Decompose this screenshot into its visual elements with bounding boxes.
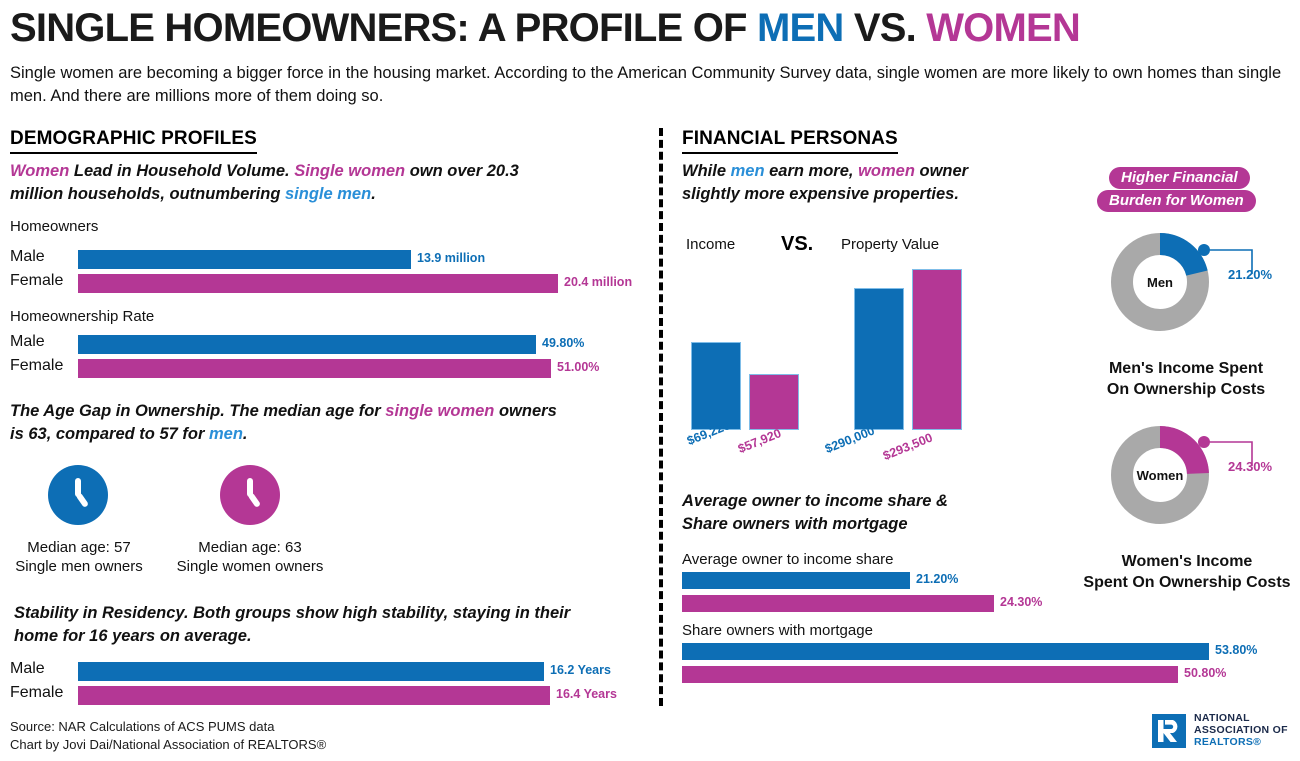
age-lede-single-women: single women — [385, 402, 494, 420]
stability-lede: Stability in Residency. Both groups show… — [14, 602, 614, 648]
age-lede-part-5: . — [243, 425, 248, 443]
bar-fill-blue — [682, 572, 910, 589]
column-divider — [659, 128, 663, 706]
bar-value-label: 49.80% — [542, 336, 584, 350]
bar-fill-magenta — [682, 666, 1178, 683]
badge-burden-for-women: Burden for Women — [1097, 190, 1256, 212]
nar-logo-line-1: NATIONAL — [1194, 712, 1288, 724]
group-label-share-owners-mortgage: Share owners with mortgage — [682, 622, 873, 639]
source-line-1: Source: NAR Calculations of ACS PUMS dat… — [10, 718, 326, 736]
donut-caption-women-line1: Women's Income — [1082, 551, 1292, 572]
vs-label: VS. — [781, 233, 813, 256]
title-segment-black-2: VS. — [844, 6, 927, 50]
bar-category-label: Female — [10, 272, 82, 290]
column-bar-income-female — [749, 374, 799, 430]
share-lede-line-2: Share owners with mortgage — [682, 513, 1022, 536]
bar-row-rate-female: Female 51.00% — [10, 359, 640, 378]
donut-caption-women-line2: Spent On Ownership Costs — [1082, 572, 1292, 593]
nar-logo-line-3: REALTORS® — [1194, 736, 1288, 748]
infographic-page: SINGLE HOMEOWNERS: A PROFILE OF MEN VS. … — [0, 0, 1300, 761]
lede-part-6: . — [371, 185, 376, 203]
section-heading-financial-personas: FINANCIAL PERSONAS — [682, 128, 898, 154]
column-value-property-female: $293,500 — [881, 430, 935, 463]
bar-row-homeowners-male: Male 13.9 million — [10, 250, 640, 269]
clock-caption-men-line2: Single men owners — [0, 557, 160, 576]
clock-caption-women-line1: Median age: 63 — [162, 538, 338, 557]
bar-fill-magenta — [78, 686, 550, 705]
bar-row-homeowners-female: Female 20.4 million — [10, 274, 640, 293]
column-chart-income-property — [686, 270, 966, 430]
axis-label-income: Income — [686, 236, 735, 253]
nar-logo-line-2: ASSOCIATION OF — [1194, 724, 1288, 736]
bar-value-label: 21.20% — [916, 572, 958, 586]
clock-caption-men: Median age: 57 Single men owners — [0, 538, 160, 576]
bar-category-label: Female — [10, 357, 82, 375]
source-line-2: Chart by Jovi Dai/National Association o… — [10, 736, 326, 754]
clock-caption-men-line1: Median age: 57 — [0, 538, 160, 557]
bar-value-label: 13.9 million — [417, 251, 485, 265]
donut-chart-women: Women — [1110, 425, 1210, 525]
bar-fill-blue — [78, 250, 411, 269]
title-segment-women: WOMEN — [926, 6, 1080, 50]
group-label-homeownership-rate: Homeownership Rate — [10, 308, 154, 325]
fin-lede-part-1: While — [682, 162, 731, 180]
bar-fill-magenta — [78, 274, 558, 293]
donut-caption-women: Women's Income Spent On Ownership Costs — [1082, 551, 1292, 593]
axis-label-property-value: Property Value — [841, 236, 939, 253]
bar-fill-blue — [682, 643, 1209, 660]
bar-value-label: 20.4 million — [564, 275, 632, 289]
bar-row-income-share-female: 24.30% — [682, 595, 1292, 612]
age-gap-lede: The Age Gap in Ownership. The median age… — [10, 400, 570, 446]
donut-caption-men: Men's Income Spent On Ownership Costs — [1088, 358, 1284, 400]
bar-row-rate-male: Male 49.80% — [10, 335, 640, 354]
donut-value-women: 24.30% — [1228, 459, 1272, 474]
clock-caption-women-line2: Single women owners — [162, 557, 338, 576]
bar-fill-blue — [78, 335, 536, 354]
bar-category-label: Female — [10, 684, 82, 702]
lede-part-2: Lead in Household Volume. — [69, 162, 294, 180]
column-value-income-female: $57,920 — [736, 426, 783, 456]
page-title: SINGLE HOMEOWNERS: A PROFILE OF MEN VS. … — [10, 6, 1295, 51]
badge-higher-financial: Higher Financial — [1109, 167, 1250, 189]
clock-badge-men — [48, 465, 108, 525]
lede-single-men: single men — [285, 185, 371, 203]
bar-value-label: 16.2 Years — [550, 663, 611, 677]
bar-category-label: Male — [10, 660, 82, 678]
clock-icon — [220, 465, 280, 525]
bar-value-label: 16.4 Years — [556, 687, 617, 701]
bar-value-label: 51.00% — [557, 360, 599, 374]
nar-logo: NATIONAL ASSOCIATION OF REALTORS® — [1152, 712, 1292, 754]
nar-logo-text: NATIONAL ASSOCIATION OF REALTORS® — [1194, 712, 1288, 748]
group-label-avg-owner-income-share: Average owner to income share — [682, 551, 894, 568]
title-segment-men: MEN — [757, 6, 844, 50]
bar-value-label: 50.80% — [1184, 666, 1226, 680]
bar-fill-blue — [78, 662, 544, 681]
demographic-lede: Women Lead in Household Volume. Single w… — [10, 160, 570, 206]
bar-value-label: 53.80% — [1215, 643, 1257, 657]
donut-caption-men-line1: Men's Income Spent — [1088, 358, 1284, 379]
bar-row-mortgage-female: 50.80% — [682, 666, 1292, 683]
age-lede-men: men — [209, 425, 243, 443]
financial-lede: While men earn more, women owner slightl… — [682, 160, 1012, 206]
bar-row-stability-male: Male 16.2 Years — [10, 662, 640, 681]
leader-dot-icon — [1198, 436, 1210, 448]
clock-badge-women — [220, 465, 280, 525]
page-subtitle: Single women are becoming a bigger force… — [10, 62, 1292, 108]
donut-caption-men-line2: On Ownership Costs — [1088, 379, 1284, 400]
clock-hand-hour — [248, 492, 262, 508]
bar-value-label: 24.30% — [1000, 595, 1042, 609]
share-lede-line-1: Average owner to income share & — [682, 490, 1022, 513]
donut-chart-men: Men — [1110, 232, 1210, 332]
group-label-homeowners: Homeowners — [10, 218, 98, 235]
bar-category-label: Male — [10, 333, 82, 351]
donut-value-men: 21.20% — [1228, 267, 1272, 282]
bar-fill-magenta — [682, 595, 994, 612]
bar-category-label: Male — [10, 248, 82, 266]
column-bar-property-female — [912, 269, 962, 430]
bar-row-mortgage-male: 53.80% — [682, 643, 1292, 660]
title-segment-black-1: SINGLE HOMEOWNERS: A PROFILE OF — [10, 6, 757, 50]
donut-center-label-men: Men — [1110, 275, 1210, 290]
age-lede-part-1: The Age Gap in Ownership. The median age… — [10, 402, 385, 420]
section-heading-demographic-profiles: DEMOGRAPHIC PROFILES — [10, 128, 257, 154]
donut-center-label-women: Women — [1110, 468, 1210, 483]
fin-lede-men: men — [731, 162, 765, 180]
column-bar-property-male — [854, 288, 904, 430]
clock-hand-hour — [76, 492, 90, 508]
share-lede: Average owner to income share & Share ow… — [682, 490, 1022, 536]
leader-dot-icon — [1198, 244, 1210, 256]
bar-fill-magenta — [78, 359, 551, 378]
bar-row-stability-female: Female 16.4 Years — [10, 686, 640, 705]
clock-caption-women: Median age: 63 Single women owners — [162, 538, 338, 576]
column-bar-income-male — [691, 342, 741, 430]
lede-women: Women — [10, 162, 69, 180]
fin-lede-part-3: earn more, — [765, 162, 859, 180]
fin-lede-women: women — [858, 162, 915, 180]
clock-icon — [48, 465, 108, 525]
nar-r-monogram-icon — [1152, 714, 1186, 748]
source-note: Source: NAR Calculations of ACS PUMS dat… — [10, 718, 326, 754]
lede-single-women: Single women — [294, 162, 405, 180]
